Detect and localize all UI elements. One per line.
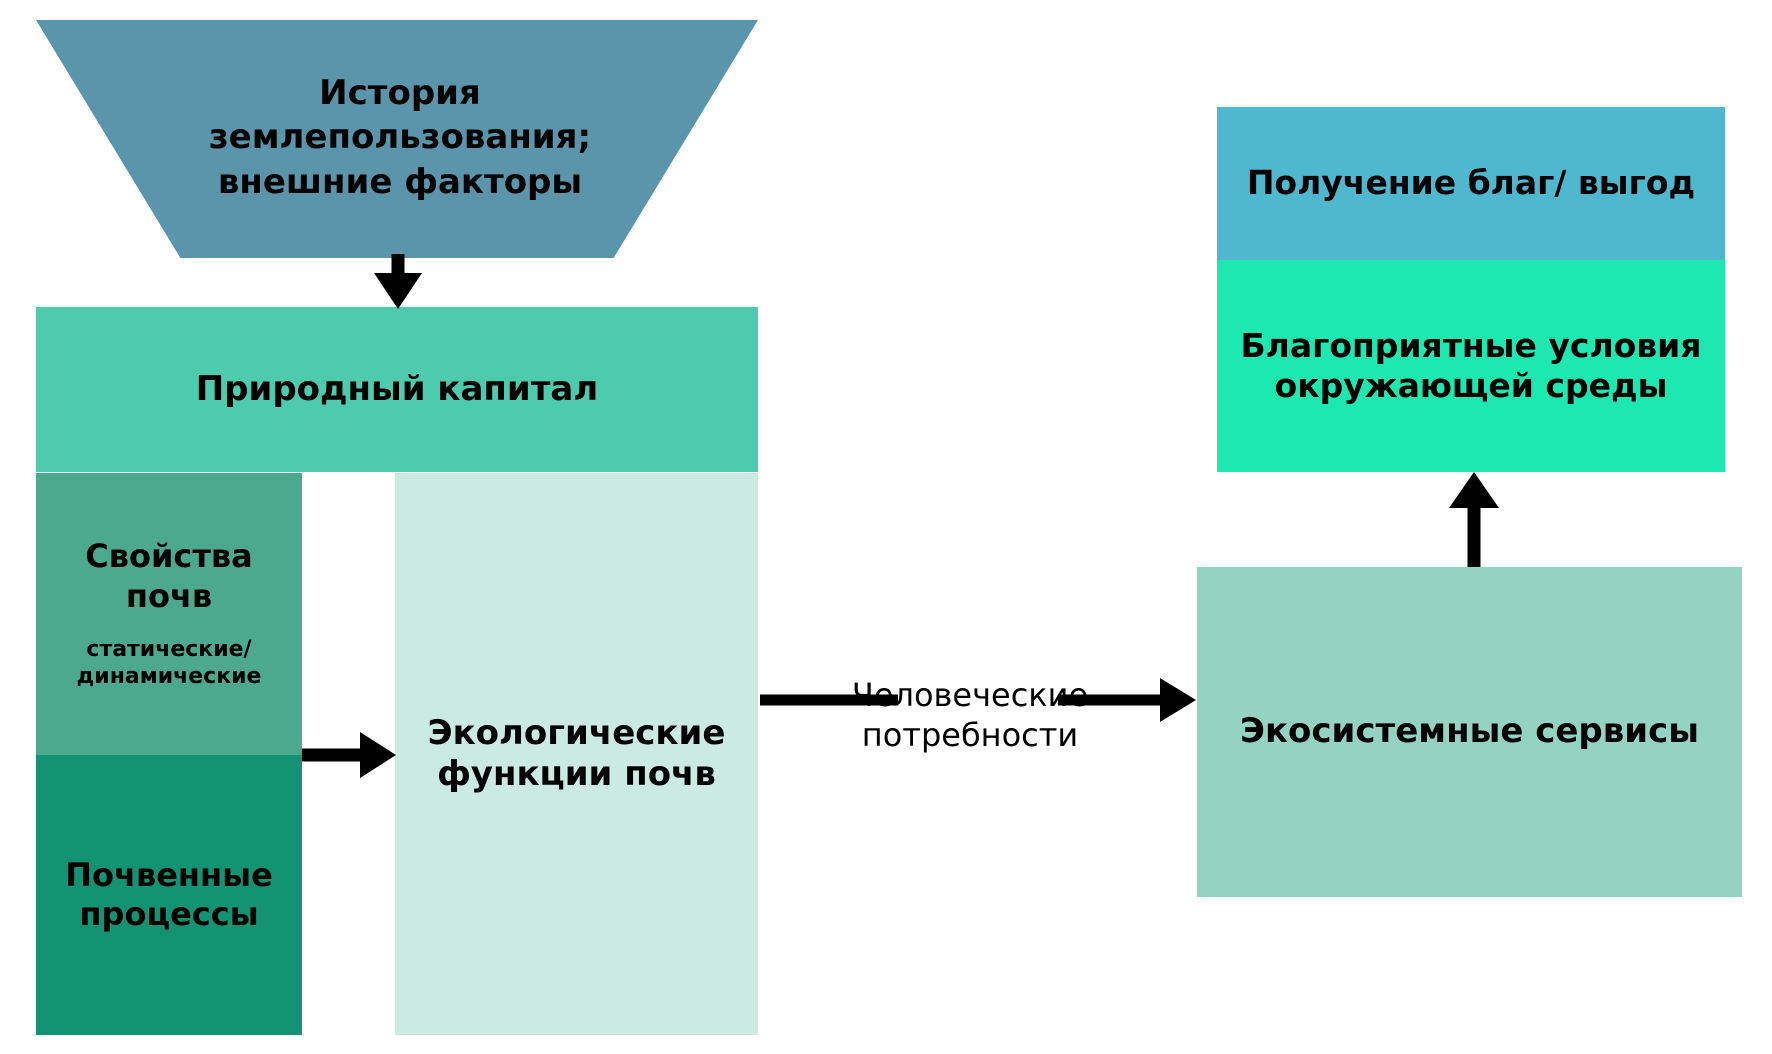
- node-environment-label: Благоприятные условия окружающей среды: [1227, 326, 1715, 407]
- node-natural-capital: Природный капитал: [36, 307, 758, 472]
- node-soil-processes: Почвенные процессы: [36, 755, 302, 1035]
- node-ecological-functions: Экологические функции почв: [395, 473, 758, 1035]
- node-ecosystem-services-label: Экосистемные сервисы: [1240, 711, 1699, 752]
- node-soil-properties-sublabel: статические/ динамические: [46, 636, 292, 691]
- node-soil-properties: Свойства почв статические/ динамические: [36, 473, 302, 755]
- arrow-properties-to-functions: [302, 732, 396, 778]
- node-benefits-label: Получение благ/ выгод: [1247, 163, 1695, 203]
- connector-label-human-needs: Человеческие потребности: [800, 675, 1140, 755]
- arrow-history-to-capital: [374, 254, 422, 309]
- arrow-services-to-environment: [1449, 472, 1499, 567]
- node-soil-processes-label: Почвенные процессы: [46, 856, 292, 934]
- node-soil-properties-label: Свойства почв: [46, 537, 292, 615]
- node-environment: Благоприятные условия окружающей среды: [1217, 260, 1725, 472]
- diagram-canvas: История землепользования; внешние фактор…: [0, 0, 1772, 1054]
- node-ecosystem-services: Экосистемные сервисы: [1197, 567, 1742, 897]
- node-benefits: Получение благ/ выгод: [1217, 107, 1725, 260]
- node-land-use-history-label: История землепользования; внешние фактор…: [150, 40, 650, 235]
- node-natural-capital-label: Природный капитал: [196, 369, 599, 410]
- node-ecological-functions-label: Экологические функции почв: [405, 713, 748, 796]
